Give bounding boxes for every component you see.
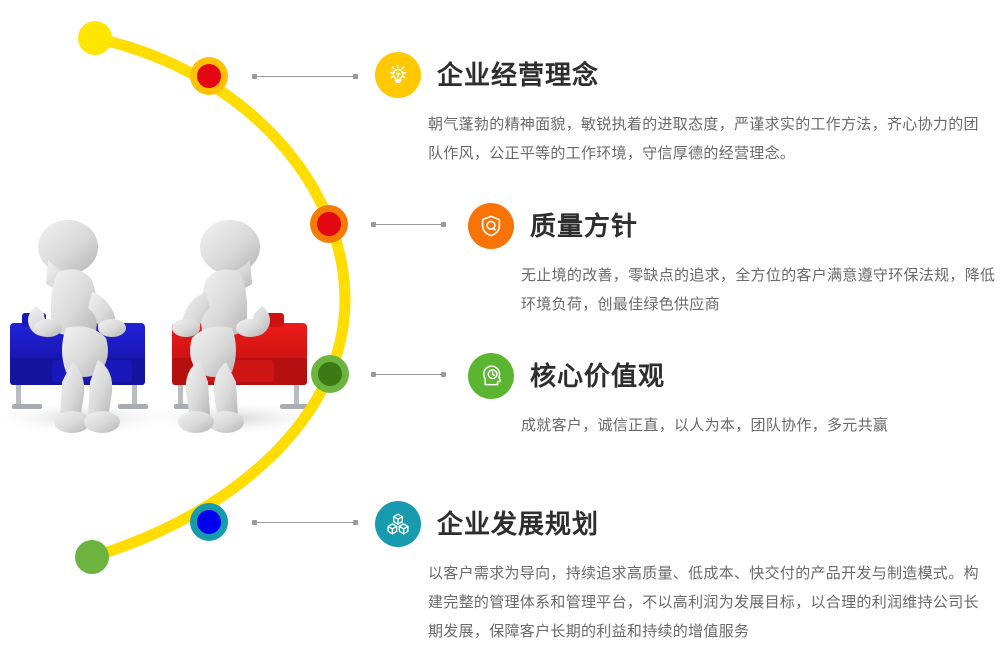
block-planning-head: 企业发展规划 [375, 501, 955, 547]
arc-start-cap [78, 21, 112, 55]
connector-planning [252, 519, 358, 526]
block-philosophy: 企业经营理念 朝气蓬勃的精神面貌，敏锐执着的进取态度，严谨求实的工作方法，齐心协… [375, 52, 955, 168]
arc-end-cap [75, 540, 109, 574]
block-quality-title: 质量方针 [530, 213, 638, 239]
block-philosophy-title: 企业经营理念 [437, 62, 599, 88]
node-planning-core[interactable] [197, 510, 221, 534]
connector-cap-end [441, 372, 446, 377]
connector-philosophy [252, 73, 358, 80]
block-planning-title: 企业发展规划 [437, 511, 599, 537]
block-planning-body: 以客户需求为导向，持续追求高质量、低成本、快交付的产品开发与制造模式。构建完整的… [428, 559, 993, 646]
block-quality-body: 无止境的改善，零缺点的追求，全方位的客户满意遵守环保法规，降低环境负荷，创最佳绿… [521, 261, 996, 319]
block-values-head: 核心价值观 [468, 353, 958, 399]
block-quality-head: 质量方针 [468, 203, 958, 249]
connector-quality [371, 221, 446, 228]
block-planning: 企业发展规划 以客户需求为导向，持续追求高质量、低成本、快交付的产品开发与制造模… [375, 501, 955, 646]
node-planning-ring [190, 503, 228, 541]
connector-line [255, 522, 355, 523]
node-philosophy-ring [190, 57, 228, 95]
block-values-body: 成就客户，诚信正直，以人为本，团队协作，多元共赢 [521, 411, 996, 440]
infographic-canvas: 企业经营理念 朝气蓬勃的精神面貌，敏锐执着的进取态度，严谨求实的工作方法，齐心协… [0, 0, 1008, 662]
connector-values [371, 371, 446, 378]
shield-q-icon[interactable] [468, 203, 514, 249]
block-philosophy-head: 企业经营理念 [375, 52, 955, 98]
block-philosophy-body: 朝气蓬勃的精神面貌，敏锐执着的进取态度，严谨求实的工作方法，齐心协力的团队作风，… [428, 110, 993, 168]
block-values: 核心价值观 成就客户，诚信正直，以人为本，团队协作，多元共赢 [468, 353, 958, 440]
connector-cap-end [441, 222, 446, 227]
connector-line [255, 76, 355, 77]
head-idea-icon[interactable] [468, 353, 514, 399]
two-figures-illustration [0, 210, 345, 445]
block-quality: 质量方针 无止境的改善，零缺点的追求，全方位的客户满意遵守环保法规，降低环境负荷… [468, 203, 958, 319]
connector-cap-end [353, 520, 358, 525]
connector-cap-end [353, 74, 358, 79]
block-values-title: 核心价值观 [530, 363, 665, 389]
connector-line [374, 224, 443, 225]
lightbulb-icon[interactable] [375, 52, 421, 98]
connector-line [374, 374, 443, 375]
stacked-cubes-icon[interactable] [375, 501, 421, 547]
node-philosophy-core[interactable] [197, 64, 221, 88]
